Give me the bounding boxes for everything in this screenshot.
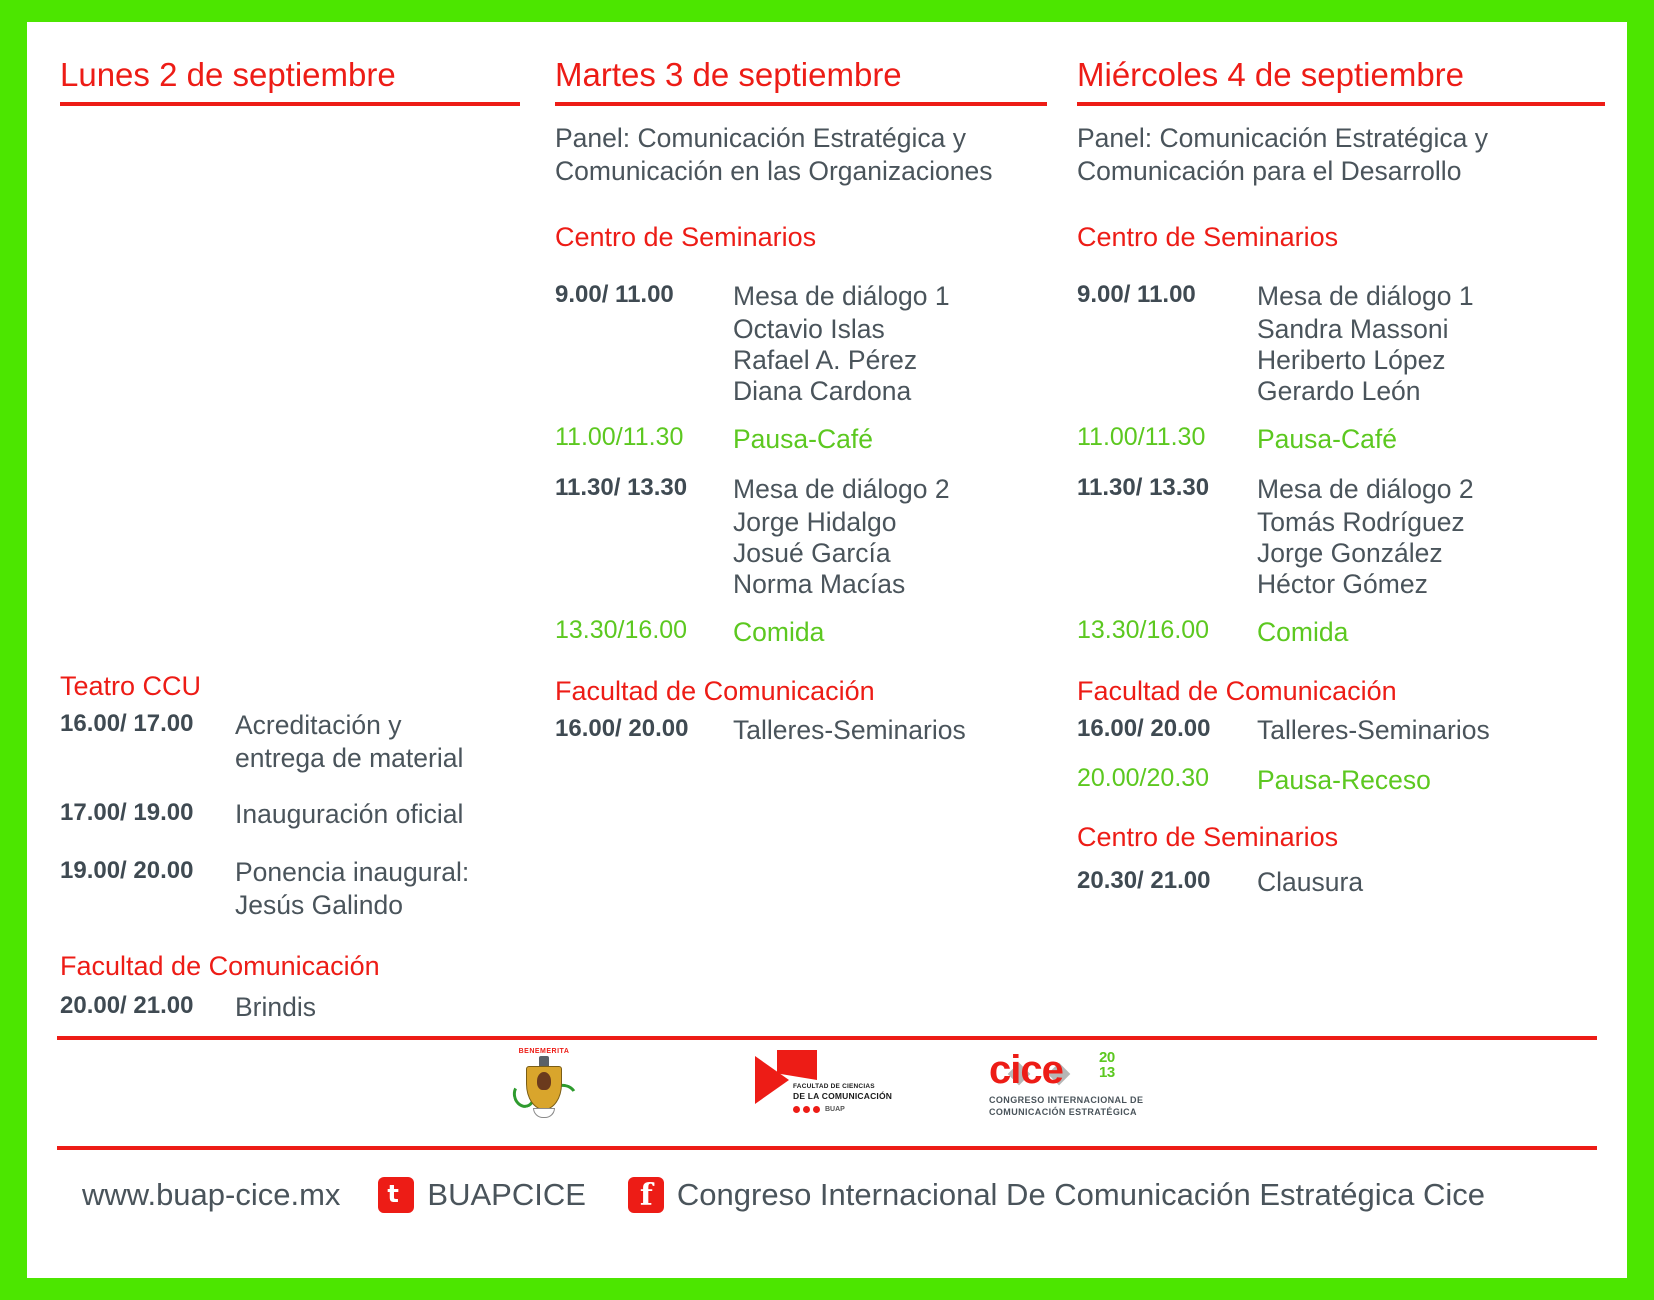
row-line: Jorge González: [1257, 538, 1474, 569]
venue-label: Centro de Seminarios: [1077, 220, 1627, 254]
row-body: Mesa de diálogo 2 Tomás Rodríguez Jorge …: [1257, 471, 1474, 600]
venue-label: Facultad de Comunicación: [1077, 674, 1627, 708]
footer-bar: www.buap-cice.mx t BUAPCICE f Congreso I…: [27, 1160, 1627, 1230]
row-head: Talleres-Seminarios: [1257, 715, 1490, 745]
day-title-wednesday: Miércoles 4 de septiembre: [1077, 22, 1627, 96]
schedule-rows: 16.00/ 20.00 Talleres-Seminarios: [555, 712, 1065, 748]
row-body: Talleres-Seminarios: [1257, 712, 1490, 748]
row-head: Ponencia inaugural:: [235, 857, 469, 887]
row-time: 9.00/ 11.00: [1077, 278, 1257, 311]
schedule-rows: 9.00/ 11.00 Mesa de diálogo 1 Octavio Is…: [555, 278, 1065, 650]
schedule-row-break: 11.00/11.30 Pausa-Café: [1077, 421, 1627, 457]
row-time: 17.00/ 19.00: [60, 796, 235, 829]
row-body: Inauguración oficial: [235, 796, 463, 832]
panel-title-tuesday: Panel: Comunicación Estratégica y Comuni…: [555, 122, 1065, 188]
cice-year-top: 20: [1099, 1050, 1115, 1065]
row-line: Sandra Massoni: [1257, 314, 1474, 345]
row-line: Josué García: [733, 538, 950, 569]
day-rule-tuesday: [555, 102, 1047, 106]
row-head: Mesa de diálogo 2: [1257, 474, 1474, 504]
venue-label: Facultad de Comunicación: [60, 949, 540, 983]
row-time: 11.30/ 13.30: [1077, 471, 1257, 504]
row-body: Brindis: [235, 989, 316, 1025]
row-time: 11.00/11.30: [555, 421, 733, 454]
schedule-row-break: 11.00/11.30 Pausa-Café: [555, 421, 1065, 457]
row-line: Diana Cardona: [733, 376, 950, 407]
row-head: Pausa-Café: [733, 424, 873, 454]
panel-title-wednesday: Panel: Comunicación Estratégica y Comuni…: [1077, 122, 1627, 188]
schedule-row: 20.00/ 21.00 Brindis: [60, 989, 540, 1025]
venue-label: Teatro CCU: [60, 669, 540, 703]
twitter-link[interactable]: t BUAPCICE: [378, 1177, 585, 1213]
row-time: 19.00/ 20.00: [60, 854, 235, 887]
row-time: 20.00/ 21.00: [60, 989, 235, 1022]
row-head: Comida: [1257, 617, 1348, 647]
row-head: Mesa de diálogo 2: [733, 474, 950, 504]
row-line: Octavio Islas: [733, 314, 950, 345]
row-body: Mesa de diálogo 1 Sandra Massoni Heriber…: [1257, 278, 1474, 407]
row-body: Ponencia inaugural: Jesús Galindo: [235, 854, 469, 921]
schedule-row: 16.00/ 20.00 Talleres-Seminarios: [1077, 712, 1627, 748]
row-body: Mesa de diálogo 1 Octavio Islas Rafael A…: [733, 278, 950, 407]
schedule-row: 19.00/ 20.00 Ponencia inaugural: Jesús G…: [60, 854, 540, 921]
footer-divider: [57, 1146, 1597, 1150]
cice-subtitle-line1: CONGRESO INTERNACIONAL DE: [989, 1095, 1143, 1105]
day-title-tuesday: Martes 3 de septiembre: [555, 22, 1065, 96]
cice-wordmark: cice: [989, 1050, 1063, 1090]
row-time: 13.30/16.00: [555, 614, 733, 647]
row-body: Pausa-Café: [733, 421, 873, 457]
seal-base-shape: [533, 1108, 555, 1118]
seal-eagle-icon: [537, 1072, 551, 1090]
facultad-logo-line1: FACULTAD DE CIENCIAS: [793, 1083, 875, 1090]
facebook-handle: Congreso Internacional De Comunicación E…: [677, 1177, 1485, 1213]
cice-logo: cice 20 13 CONGRESO INTERNACIONAL DE COM…: [989, 1048, 1149, 1132]
row-time: 16.00/ 17.00: [60, 707, 235, 740]
schedule-row: 16.00/ 17.00 Acreditación y entrega de m…: [60, 707, 540, 774]
buap-seal-logo: BENEMERITA: [507, 1048, 581, 1132]
schedule-row: 11.30/ 13.30 Mesa de diálogo 2 Tomás Rod…: [1077, 471, 1627, 600]
buap-seal-word: BENEMERITA: [507, 1048, 581, 1055]
twitter-glyph: t: [387, 1183, 403, 1206]
schedule-rows: 9.00/ 11.00 Mesa de diálogo 1 Sandra Mas…: [1077, 278, 1627, 650]
row-body: Acreditación y entrega de material: [235, 707, 463, 774]
schedule-row: 16.00/ 20.00 Talleres-Seminarios: [555, 712, 1065, 748]
row-head: Brindis: [235, 992, 316, 1022]
venue-label: Centro de Seminarios: [555, 220, 1065, 254]
day-column-wednesday: Miércoles 4 de septiembre Panel: Comunic…: [1065, 22, 1627, 1022]
row-line: Heriberto López: [1257, 345, 1474, 376]
day-title-monday: Lunes 2 de septiembre: [60, 22, 540, 96]
facebook-link[interactable]: f Congreso Internacional De Comunicación…: [628, 1177, 1485, 1213]
row-body: Mesa de diálogo 2 Jorge Hidalgo Josué Ga…: [733, 471, 950, 600]
schedule-rows: 16.00/ 17.00 Acreditación y entrega de m…: [60, 707, 540, 921]
schedule-row: 17.00/ 19.00 Inauguración oficial: [60, 796, 540, 832]
row-time: 11.30/ 13.30: [555, 471, 733, 504]
day-column-tuesday: Martes 3 de septiembre Panel: Comunicaci…: [540, 22, 1065, 1022]
logo-strip: BENEMERITA FACULTAD DE CIENCIAS DE LA CO…: [27, 1044, 1627, 1132]
row-head: Inauguración oficial: [235, 799, 463, 829]
row-head: Pausa-Café: [1257, 424, 1397, 454]
schedule-row: 9.00/ 11.00 Mesa de diálogo 1 Octavio Is…: [555, 278, 1065, 407]
facultad-arrow-icon: [755, 1056, 789, 1104]
row-time: 16.00/ 20.00: [1077, 712, 1257, 745]
schedule-columns: Lunes 2 de septiembre Teatro CCU 16.00/ …: [27, 22, 1627, 1022]
row-body: Pausa-Receso: [1257, 762, 1431, 798]
row-time: 11.00/11.30: [1077, 421, 1257, 454]
row-line: Héctor Gómez: [1257, 569, 1474, 600]
row-head: Mesa de diálogo 1: [733, 281, 950, 311]
facultad-dots-icon: [793, 1106, 820, 1113]
twitter-icon[interactable]: t: [378, 1177, 414, 1213]
row-head: Comida: [733, 617, 824, 647]
schedule-row-break: 13.30/16.00 Comida: [1077, 614, 1627, 650]
schedule-row-break: 20.00/20.30 Pausa-Receso: [1077, 762, 1627, 798]
row-time: 16.00/ 20.00: [555, 712, 733, 745]
twitter-handle: BUAPCICE: [427, 1177, 585, 1213]
row-time: 9.00/ 11.00: [555, 278, 733, 311]
row-head: Pausa-Receso: [1257, 765, 1431, 795]
row-line: entrega de material: [235, 743, 463, 774]
row-time: 20.30/ 21.00: [1077, 864, 1257, 897]
row-line: Gerardo León: [1257, 376, 1474, 407]
schedule-row: 11.30/ 13.30 Mesa de diálogo 2 Jorge Hid…: [555, 471, 1065, 600]
row-line: Jesús Galindo: [235, 890, 469, 921]
row-body: Pausa-Café: [1257, 421, 1397, 457]
row-body: Comida: [1257, 614, 1348, 650]
website-url[interactable]: www.buap-cice.mx: [82, 1177, 340, 1213]
row-body: Clausura: [1257, 864, 1363, 900]
facebook-glyph: f: [640, 1180, 653, 1212]
schedule-rows: 16.00/ 20.00 Talleres-Seminarios 20.00/2…: [1077, 712, 1627, 798]
facultad-comunicacion-logo: FACULTAD DE CIENCIAS DE LA COMUNICACIÓN …: [755, 1050, 865, 1130]
schedule-rows: 20.30/ 21.00 Clausura: [1077, 864, 1627, 900]
venue-label: Facultad de Comunicación: [555, 674, 1065, 708]
row-line: Rafael A. Pérez: [733, 345, 950, 376]
row-time: 13.30/16.00: [1077, 614, 1257, 647]
row-head: Clausura: [1257, 867, 1363, 897]
row-line: Tomás Rodríguez: [1257, 507, 1474, 538]
logos-divider-top: [57, 1036, 1597, 1040]
row-time: 20.00/20.30: [1077, 762, 1257, 795]
row-body: Comida: [733, 614, 824, 650]
row-line: Norma Macías: [733, 569, 950, 600]
facultad-logo-line2: DE LA COMUNICACIÓN: [793, 1091, 892, 1101]
facultad-logo-buap: BUAP: [825, 1106, 845, 1113]
schedule-row: 20.30/ 21.00 Clausura: [1077, 864, 1627, 900]
row-line: Jorge Hidalgo: [733, 507, 950, 538]
schedule-rows: 20.00/ 21.00 Brindis: [60, 989, 540, 1025]
row-head: Mesa de diálogo 1: [1257, 281, 1474, 311]
row-head: Talleres-Seminarios: [733, 715, 966, 745]
day-column-monday: Lunes 2 de septiembre Teatro CCU 16.00/ …: [27, 22, 540, 1022]
row-body: Talleres-Seminarios: [733, 712, 966, 748]
venue-label: Centro de Seminarios: [1077, 820, 1627, 854]
cice-year-bottom: 13: [1099, 1065, 1115, 1080]
schedule-row: 9.00/ 11.00 Mesa de diálogo 1 Sandra Mas…: [1077, 278, 1627, 407]
cice-subtitle-line2: COMUNICACIÓN ESTRATÉGICA: [989, 1107, 1137, 1117]
schedule-row-break: 13.30/16.00 Comida: [555, 614, 1065, 650]
program-poster: Lunes 2 de septiembre Teatro CCU 16.00/ …: [27, 22, 1627, 1278]
day-rule-wednesday: [1077, 102, 1605, 106]
facebook-icon[interactable]: f: [628, 1177, 664, 1213]
row-head: Acreditación y: [235, 710, 401, 740]
